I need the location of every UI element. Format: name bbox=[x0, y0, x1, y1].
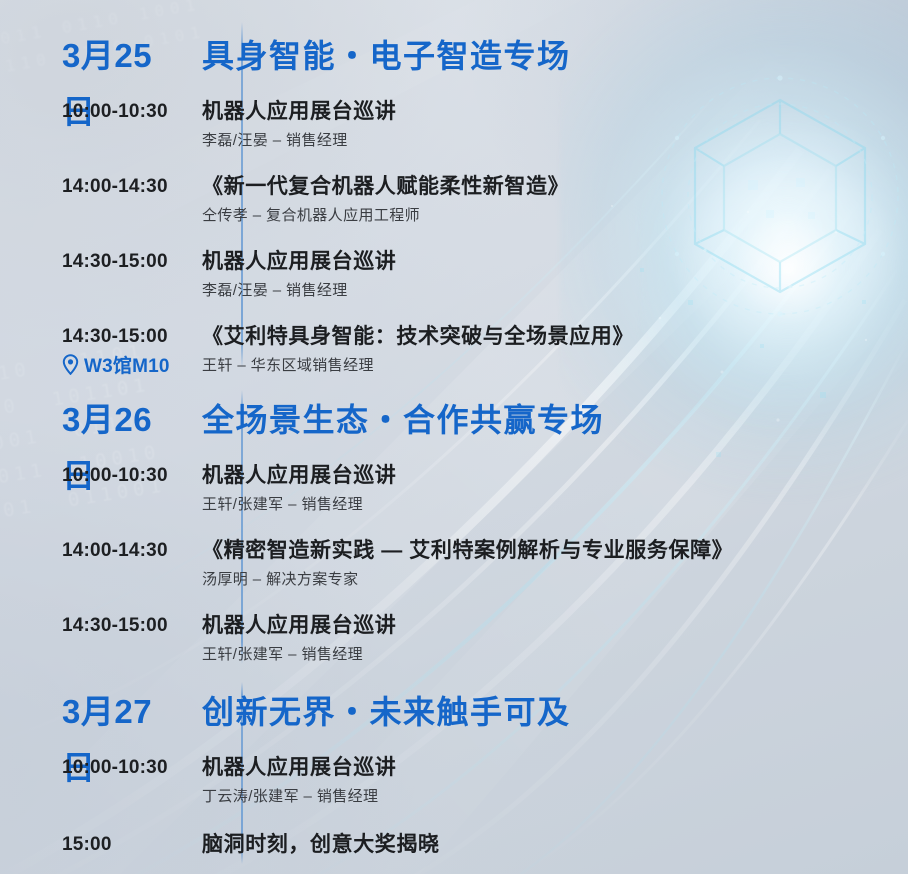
agenda-poster: 1011 0110 10010110 1100 0101 10110 01101… bbox=[0, 0, 908, 874]
session-time: 10:00-10:30 bbox=[0, 98, 180, 123]
session-title: 机器人应用展台巡讲 bbox=[202, 612, 908, 640]
session-time: 14:30-15:00 bbox=[0, 248, 180, 273]
agenda-content: 3月25日 具身智能・电子智造专场 10:00-10:30 机器人应用展台巡讲 … bbox=[0, 0, 908, 874]
day-theme-2: 全场景生态・合作共赢专场 bbox=[180, 392, 604, 448]
session-details: 《艾利特具身智能：技术突破与全场景应用》 王轩 – 华东区域销售经理 bbox=[180, 323, 908, 376]
session-time: 15:00 bbox=[0, 831, 180, 856]
day-block-2: 3月26日 全场景生态・合作共赢专场 10:00-10:30 机器人应用展台巡讲… bbox=[0, 392, 908, 665]
session-title: 机器人应用展台巡讲 bbox=[202, 248, 908, 276]
day-theme-1: 具身智能・电子智造专场 bbox=[180, 28, 571, 84]
session-details: 机器人应用展台巡讲 王轩/张建军 – 销售经理 bbox=[180, 462, 908, 515]
session-speaker: 王轩/张建军 – 销售经理 bbox=[202, 494, 908, 515]
session-row[interactable]: 14:30-15:00 W3馆M10 《艾利特具身智能：技术突破与全场景应用》 … bbox=[0, 323, 908, 378]
session-time: 10:00-10:30 bbox=[0, 754, 180, 779]
session-title: 《精密智造新实践 — 艾利特案例解析与专业服务保障》 bbox=[202, 537, 908, 565]
session-details: 机器人应用展台巡讲 李磊/汪晏 – 销售经理 bbox=[180, 248, 908, 301]
session-title: 《艾利特具身智能：技术突破与全场景应用》 bbox=[202, 323, 908, 351]
session-speaker: 汤厚明 – 解决方案专家 bbox=[202, 569, 908, 590]
session-speaker: 王轩 – 华东区域销售经理 bbox=[202, 355, 908, 376]
session-speaker: 王轩/张建军 – 销售经理 bbox=[202, 644, 908, 665]
day-date-3: 3月27日 bbox=[0, 684, 180, 796]
session-speaker: 李磊/汪晏 – 销售经理 bbox=[202, 130, 908, 151]
location-pin-icon bbox=[62, 354, 79, 375]
session-title: 脑洞时刻，创意大奖揭晓 bbox=[202, 831, 908, 859]
session-row[interactable]: 14:00-14:30 《新一代复合机器人赋能柔性新智造》 仝传孝 – 复合机器… bbox=[0, 173, 908, 226]
session-time: 14:00-14:30 bbox=[0, 537, 180, 562]
session-title: 机器人应用展台巡讲 bbox=[202, 98, 908, 126]
session-venue[interactable]: W3馆M10 bbox=[62, 351, 180, 378]
session-title: 《新一代复合机器人赋能柔性新智造》 bbox=[202, 173, 908, 201]
session-details: 脑洞时刻，创意大奖揭晓 bbox=[180, 831, 908, 859]
session-details: 《新一代复合机器人赋能柔性新智造》 仝传孝 – 复合机器人应用工程师 bbox=[180, 173, 908, 226]
session-title: 机器人应用展台巡讲 bbox=[202, 462, 908, 490]
session-title: 机器人应用展台巡讲 bbox=[202, 754, 908, 782]
session-venue-label: W3馆M10 bbox=[84, 351, 170, 378]
session-time: 10:00-10:30 bbox=[0, 462, 180, 487]
session-speaker: 丁云涛/张建军 – 销售经理 bbox=[202, 786, 908, 807]
session-speaker: 李磊/汪晏 – 销售经理 bbox=[202, 280, 908, 301]
day-date-2: 3月26日 bbox=[0, 392, 180, 504]
session-row[interactable]: 14:30-15:00 机器人应用展台巡讲 李磊/汪晏 – 销售经理 bbox=[0, 248, 908, 301]
session-time: 14:00-14:30 bbox=[0, 173, 180, 198]
session-details: 机器人应用展台巡讲 李磊/汪晏 – 销售经理 bbox=[180, 98, 908, 151]
session-time: 14:30-15:00 bbox=[0, 612, 180, 637]
session-row[interactable]: 14:00-14:30 《精密智造新实践 — 艾利特案例解析与专业服务保障》 汤… bbox=[0, 537, 908, 590]
session-speaker: 仝传孝 – 复合机器人应用工程师 bbox=[202, 205, 908, 226]
day-block-1: 3月25日 具身智能・电子智造专场 10:00-10:30 机器人应用展台巡讲 … bbox=[0, 28, 908, 378]
day-date-1: 3月25日 bbox=[0, 28, 180, 140]
session-details: 机器人应用展台巡讲 丁云涛/张建军 – 销售经理 bbox=[180, 754, 908, 807]
day-header-3: 3月27日 创新无界・未来触手可及 bbox=[0, 684, 908, 740]
day-header-2: 3月26日 全场景生态・合作共赢专场 bbox=[0, 392, 908, 448]
session-row[interactable]: 15:00 脑洞时刻，创意大奖揭晓 bbox=[0, 831, 908, 859]
session-details: 机器人应用展台巡讲 王轩/张建军 – 销售经理 bbox=[180, 612, 908, 665]
session-details: 《精密智造新实践 — 艾利特案例解析与专业服务保障》 汤厚明 – 解决方案专家 bbox=[180, 537, 908, 590]
session-time: 14:30-15:00 W3馆M10 bbox=[0, 323, 180, 378]
session-row[interactable]: 14:30-15:00 机器人应用展台巡讲 王轩/张建军 – 销售经理 bbox=[0, 612, 908, 665]
day-block-3: 3月27日 创新无界・未来触手可及 10:00-10:30 机器人应用展台巡讲 … bbox=[0, 684, 908, 859]
day-theme-3: 创新无界・未来触手可及 bbox=[180, 684, 571, 740]
day-header-1: 3月25日 具身智能・电子智造专场 bbox=[0, 28, 908, 84]
